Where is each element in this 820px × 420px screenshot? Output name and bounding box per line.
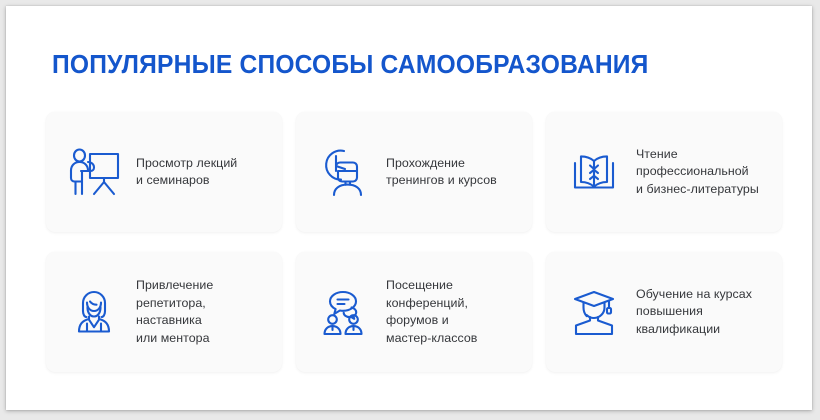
card-label: Посещение конференций, форумов и мастер-…	[386, 277, 520, 347]
card-label: Обучение на курсах повышения квалификаци…	[636, 286, 770, 339]
page-title: ПОПУЛЯРНЫЕ СПОСОБЫ САМООБРАЗОВАНИЯ	[52, 51, 649, 80]
card-trainings-courses[interactable]: Прохождение тренингов и курсов	[296, 112, 532, 232]
open-book-icon	[562, 140, 626, 204]
card-tutor-mentor[interactable]: Привлечение репетитора, наставника или м…	[46, 252, 282, 372]
graduate-cap-icon	[562, 280, 626, 344]
presenter-whiteboard-icon	[62, 140, 126, 204]
people-speech-bubbles-icon	[312, 280, 376, 344]
card-label: Чтение профессиональной и бизнес-литерат…	[636, 146, 770, 199]
female-tutor-icon	[62, 280, 126, 344]
screenshot-canvas: ПОПУЛЯРНЫЕ СПОСОБЫ САМООБРАЗОВАНИЯ	[0, 0, 820, 420]
card-label: Привлечение репетитора, наставника или м…	[136, 277, 270, 347]
clock-person-icon	[312, 140, 376, 204]
card-conferences-forums[interactable]: Посещение конференций, форумов и мастер-…	[296, 252, 532, 372]
slide-sheet: ПОПУЛЯРНЫЕ СПОСОБЫ САМООБРАЗОВАНИЯ	[6, 6, 812, 410]
card-lectures-seminars[interactable]: Просмотр лекций и семинаров	[46, 112, 282, 232]
card-professional-literature[interactable]: Чтение профессиональной и бизнес-литерат…	[546, 112, 782, 232]
card-qualification-courses[interactable]: Обучение на курсах повышения квалификаци…	[546, 252, 782, 372]
methods-grid: Просмотр лекций и семинаров Прохождение	[46, 112, 782, 372]
card-label: Просмотр лекций и семинаров	[136, 155, 270, 190]
card-label: Прохождение тренингов и курсов	[386, 155, 520, 190]
